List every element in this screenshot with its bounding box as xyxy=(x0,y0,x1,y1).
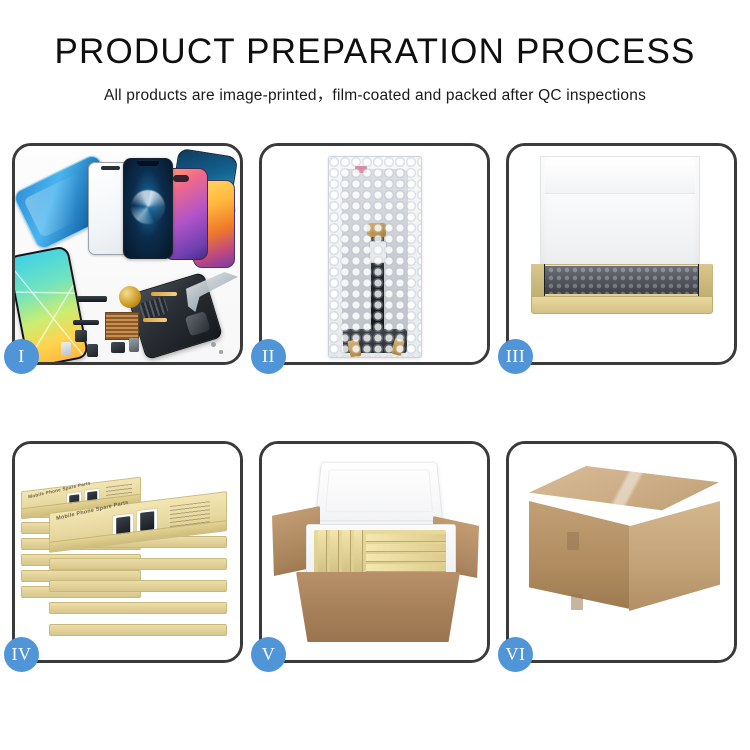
page-subtitle: All products are image-printed，film-coat… xyxy=(0,83,750,105)
foam-sheet-icon xyxy=(540,156,700,278)
step-panel-4: Mobile Phone Spare Parts Mobile Phone Sp… xyxy=(12,441,243,663)
step-image-4: Mobile Phone Spare Parts Mobile Phone Sp… xyxy=(15,444,240,660)
step-panel-6: VI xyxy=(506,441,737,663)
page-title: PRODUCT PREPARATION PROCESS xyxy=(0,34,750,71)
stacked-box-edge xyxy=(49,580,227,592)
carton-tape-top-icon xyxy=(567,532,579,550)
step-image-1 xyxy=(15,146,240,362)
box-front-panel-icon xyxy=(531,296,713,314)
stacked-box-edge xyxy=(49,602,227,614)
small-connector-icon xyxy=(73,320,99,325)
camera-module-icon xyxy=(111,342,125,353)
box-stack-icon: Mobile Phone Spare Parts Mobile Phone Sp… xyxy=(21,462,233,648)
carton-tape-bottom-icon xyxy=(571,594,583,610)
screw-icon xyxy=(211,342,216,347)
step-panel-2: II xyxy=(259,143,490,365)
chip-grid-icon xyxy=(105,312,139,340)
step-badge-6: VI xyxy=(498,637,533,672)
outer-carton-body-icon xyxy=(296,572,460,642)
step-badge-2: II xyxy=(251,339,286,374)
speaker-icon xyxy=(129,338,139,352)
bubble-wrap-package-icon xyxy=(328,156,422,358)
connector-icon xyxy=(367,223,386,237)
step-badge-4: IV xyxy=(4,637,39,672)
step-image-2 xyxy=(262,146,487,362)
step-panel-5: V xyxy=(259,441,490,663)
pink-label-icon xyxy=(355,166,367,173)
step-image-6 xyxy=(509,444,734,660)
dark-screen-phone-icon xyxy=(123,158,173,259)
product-preparation-page: PRODUCT PREPARATION PROCESS All products… xyxy=(0,0,750,750)
flex-cable-icon xyxy=(151,292,177,296)
earpiece-mesh-icon xyxy=(77,296,107,302)
step-image-3 xyxy=(509,146,734,362)
vibrator-icon xyxy=(87,344,98,357)
step-badge-5: V xyxy=(251,637,286,672)
bubble-wrapped-contents-icon xyxy=(539,266,701,294)
step-panel-3: III xyxy=(506,143,737,365)
screw-2-icon xyxy=(219,350,223,354)
battery-connector-icon xyxy=(61,342,71,356)
step-image-5 xyxy=(262,444,487,660)
gold-coil-icon xyxy=(119,286,141,308)
process-steps-grid: I II xyxy=(12,143,738,663)
stacked-box-edge xyxy=(49,624,227,636)
stacked-box-edge xyxy=(49,558,227,570)
driver-ic-icon xyxy=(369,241,387,263)
ic-chip-icon xyxy=(75,330,87,342)
flex-cable-2-icon xyxy=(143,318,167,322)
step-badge-1: I xyxy=(4,339,39,374)
step-badge-3: III xyxy=(498,339,533,374)
step-panel-1: I xyxy=(12,143,243,365)
carton-left-face-icon xyxy=(529,501,630,609)
carton-right-face-icon xyxy=(629,501,720,611)
foam-lid-icon xyxy=(315,462,443,521)
page-header: PRODUCT PREPARATION PROCESS All products… xyxy=(0,0,750,105)
